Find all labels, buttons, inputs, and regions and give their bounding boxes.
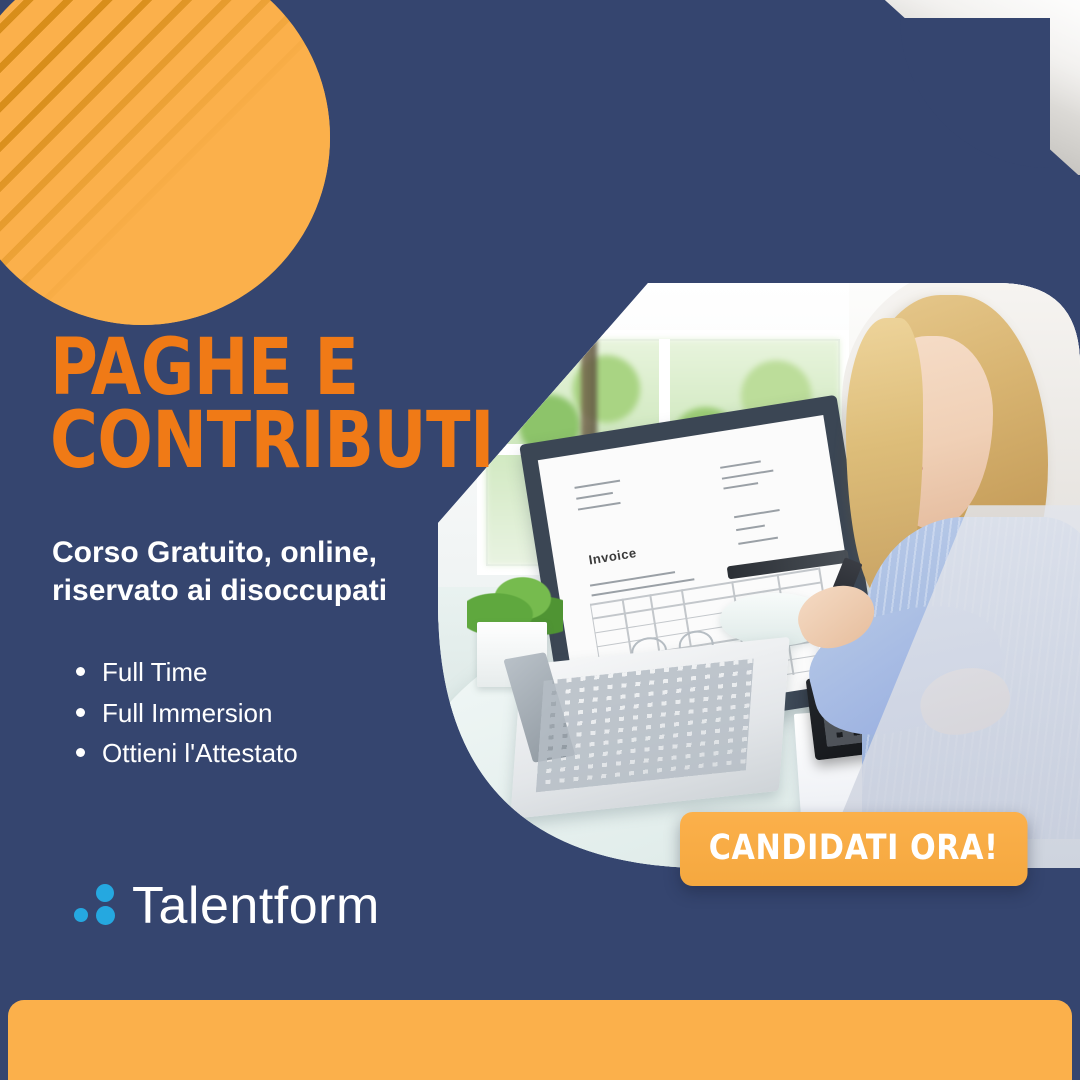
photo-laptop	[510, 636, 789, 818]
page-curl-decoration	[880, 0, 1080, 175]
brand-logo[interactable]: Talentform	[74, 880, 380, 932]
photo-laptop-keyboard	[536, 659, 753, 792]
page-subtitle: Corso Gratuito, online, riservato ai dis…	[52, 534, 502, 611]
feature-list: Full Time Full Immersion Ottieni l'Attes…	[72, 652, 298, 774]
page-curl-inner-notch	[900, 18, 1050, 168]
page-title-line-2: CONTRIBUTI	[50, 405, 487, 478]
page-subtitle-line-2: riservato ai disoccupati	[52, 574, 387, 607]
flyer-canvas: Invoice	[0, 0, 1080, 1080]
hero-photo: Invoice	[438, 283, 1080, 868]
striped-circle-decoration	[0, 0, 330, 325]
brand-wordmark: Talentform	[132, 880, 380, 932]
list-item-label: Full Time	[102, 657, 207, 687]
orange-footer-bar	[8, 1000, 1072, 1080]
list-item: Full Immersion	[98, 693, 298, 734]
invoice-document-title: Invoice	[587, 545, 637, 567]
list-item-label: Ottieni l'Attestato	[102, 738, 298, 768]
list-item: Ottieni l'Attestato	[98, 733, 298, 774]
list-item-label: Full Immersion	[102, 698, 272, 728]
apply-now-button[interactable]: CANDIDATI ORA!	[680, 812, 1027, 886]
photo-scene: Invoice	[438, 283, 1080, 868]
page-subtitle-line-1: Corso Gratuito, online,	[52, 536, 377, 569]
list-item: Full Time	[98, 652, 298, 693]
three-dots-icon	[74, 883, 120, 929]
page-title: PAGHE E CONTRIBUTI	[50, 332, 487, 479]
